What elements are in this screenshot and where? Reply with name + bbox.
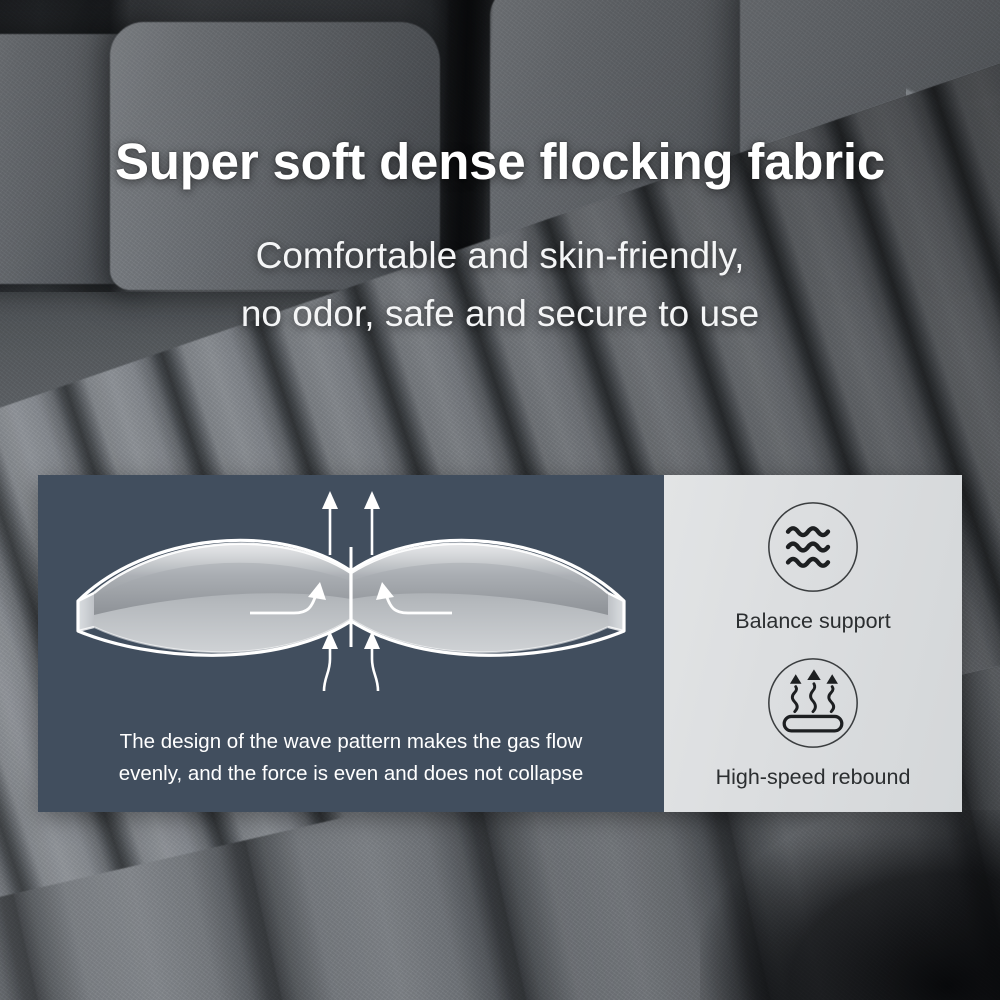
lens-chamber-right bbox=[351, 540, 624, 655]
corner-vignette bbox=[700, 810, 1000, 1000]
info-panel-right: Balance support High- bbox=[664, 475, 962, 812]
diagram-caption-line-1: The design of the wave pattern makes the… bbox=[38, 726, 664, 758]
info-panel: The design of the wave pattern makes the… bbox=[38, 475, 962, 812]
info-panel-left: The design of the wave pattern makes the… bbox=[38, 475, 664, 812]
diagram-caption: The design of the wave pattern makes the… bbox=[38, 726, 664, 790]
feature-balance-support: Balance support bbox=[664, 499, 962, 634]
wavy-lines-icon bbox=[765, 499, 861, 595]
diagram-caption-line-2: evenly, and the force is even and does n… bbox=[38, 758, 664, 790]
airflow-arrow-up-bottom-right bbox=[364, 631, 380, 691]
feature-high-speed-rebound: High-speed rebound bbox=[664, 655, 962, 790]
airflow-arrow-up-top-left bbox=[322, 491, 338, 555]
airflow-arrow-up-top-right bbox=[364, 491, 380, 555]
feature-label-balance-support: Balance support bbox=[664, 609, 962, 634]
airflow-arrow-up-bottom-left bbox=[322, 631, 338, 691]
product-marketing-image: Super soft dense flocking fabric Comfort… bbox=[0, 0, 1000, 1000]
feature-label-high-speed-rebound: High-speed rebound bbox=[664, 765, 962, 790]
wave-pattern-airflow-diagram bbox=[38, 481, 664, 696]
subtitle-line-2: no odor, safe and secure to use bbox=[0, 293, 1000, 335]
subtitle-line-1: Comfortable and skin-friendly, bbox=[0, 235, 1000, 277]
rebound-arrows-icon bbox=[765, 655, 861, 751]
page-title: Super soft dense flocking fabric bbox=[0, 132, 1000, 191]
lens-chamber-left bbox=[78, 540, 351, 655]
